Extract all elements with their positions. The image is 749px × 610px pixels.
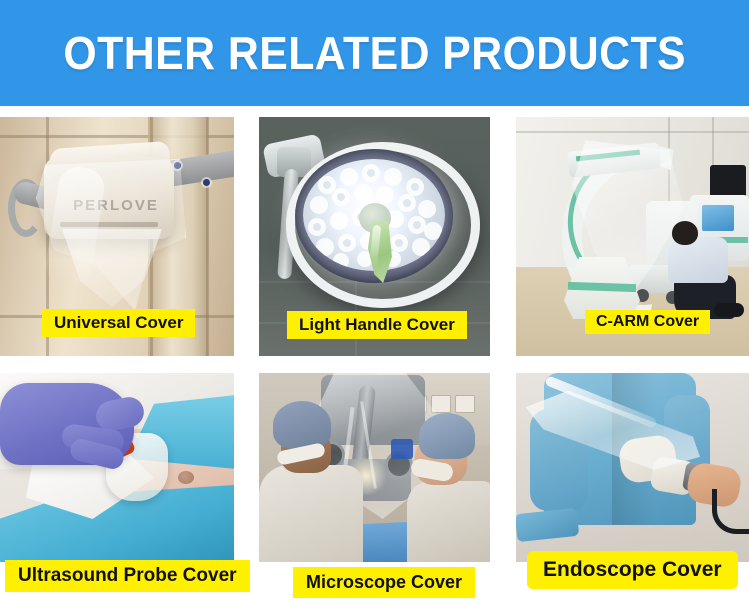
product-label-c-arm-cover: C-ARM Cover: [585, 310, 710, 334]
product-label-microscope-cover: Microscope Cover: [293, 567, 475, 598]
camera-cable: [712, 489, 749, 534]
page-header-banner: OTHER RELATED PRODUCTS: [0, 0, 749, 106]
surgeon-right-gown: [407, 481, 490, 562]
technician-torso: [668, 237, 728, 283]
surgeon-right-cap: [419, 413, 475, 459]
technician-shoe: [714, 303, 744, 317]
product-tile-ultrasound-probe-cover[interactable]: [0, 373, 234, 562]
wall-seam: [516, 131, 749, 133]
product-image-ultrasound-probe-cover: [0, 373, 234, 562]
product-label-light-handle-cover: Light Handle Cover: [287, 311, 467, 339]
product-label-ultrasound-probe-cover: Ultrasound Probe Cover: [5, 560, 250, 592]
product-tile-endoscope-cover[interactable]: [516, 373, 749, 562]
wall-outlet: [455, 395, 475, 413]
wall-seam: [206, 117, 209, 356]
product-image-microscope-cover: [259, 373, 490, 562]
surgeon-left-cap: [273, 401, 331, 449]
page-title: OTHER RELATED PRODUCTS: [63, 26, 686, 80]
patient-navel: [178, 471, 194, 484]
product-tile-microscope-cover[interactable]: [259, 373, 490, 562]
drape-blue-marker: [391, 439, 413, 459]
product-label-endoscope-cover: Endoscope Cover: [527, 551, 738, 589]
wall-monitor: [710, 165, 746, 199]
product-image-endoscope-cover: [516, 373, 749, 562]
blue-drape-corner: [516, 508, 579, 542]
product-label-universal-cover: Universal Cover: [42, 309, 195, 337]
cart-display-screen: [702, 205, 734, 231]
product-grid: PERLOVE Universal Cover: [0, 117, 749, 610]
technician-head: [672, 221, 698, 245]
surgeon-left-gown: [259, 465, 363, 562]
equipment-bolt: [203, 179, 210, 186]
